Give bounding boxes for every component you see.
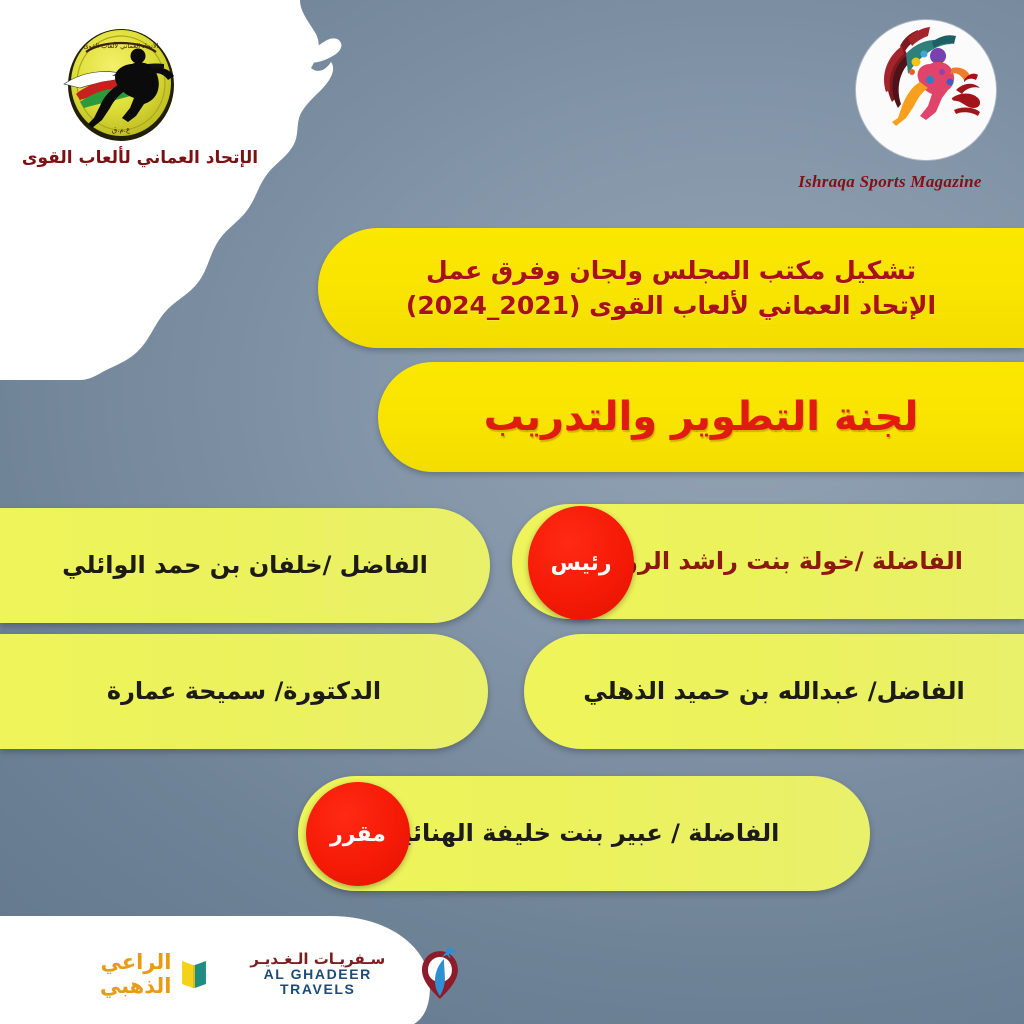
role-badge-rapporteur: مقرر (306, 782, 410, 886)
title-line-1: تشكيل مكتب المجلس ولجان وفرق عمل (406, 253, 936, 289)
federation-caption: الإتحاد العماني لألعاب القوى (0, 148, 280, 168)
al-ghadeer-english-name: AL GHADEER TRAVELS (223, 967, 412, 996)
magazine-caption: Ishraqa Sports Magazine (770, 172, 1010, 192)
title-banner: تشكيل مكتب المجلس ولجان وفرق عمل الإتحاد… (318, 228, 1024, 348)
al-ghadeer-pin-plane-icon (418, 947, 462, 1001)
subtitle-banner: لجنة التطوير والتدريب (378, 362, 1024, 472)
role-badge-label: رئيس (551, 551, 612, 576)
omani-athletics-federation-logo-icon: الاتحاد العماني لألعاب القوى ع.م.ق (56, 24, 186, 146)
member-name: الفاضل/ عبدالله بن حميد الذهلي (565, 675, 982, 707)
ishraqa-sports-magazine-logo-icon (856, 20, 996, 160)
committee-name: لجنة التطوير والتدريب (484, 394, 919, 440)
golden-sponsor-block: الراعي الذهبي (22, 950, 209, 998)
member-name: الدكتورة/ سميحة عمارة (89, 675, 399, 707)
title-line-2: الإتحاد العماني لألعاب القوى (2021_2024) (406, 288, 936, 324)
golden-sponsor-label: الراعي الذهبي (22, 950, 171, 998)
svg-text:ع.م.ق: ع.م.ق (112, 126, 131, 134)
page-title: تشكيل مكتب المجلس ولجان وفرق عمل الإتحاد… (380, 253, 962, 324)
member-pill-4: الدكتورة/ سميحة عمارة (0, 634, 488, 749)
role-badge-label: مقرر (330, 822, 386, 847)
poster-canvas: الاتحاد العماني لألعاب القوى ع.م.ق الإتح… (0, 0, 1024, 1024)
member-pill-2: الفاضل /خلفان بن حمد الوائلي (0, 508, 490, 623)
footer-sponsors: سـفريـات الـغـديـر AL GHADEER TRAVELS ال… (0, 924, 462, 1024)
member-pill-3: الفاضل/ عبدالله بن حميد الذهلي (524, 634, 1024, 749)
role-badge-chair: رئيس (528, 506, 634, 620)
member-name: الفاضلة / عبير بنت خليفة الهنائية (371, 817, 798, 849)
open-book-icon (179, 958, 209, 990)
svg-text:الاتحاد العماني لألعاب القوى: الاتحاد العماني لألعاب القوى (84, 41, 159, 50)
al-ghadeer-travels-logo: سـفريـات الـغـديـر AL GHADEER TRAVELS (223, 947, 462, 1001)
al-ghadeer-arabic-name: سـفريـات الـغـديـر (223, 952, 412, 967)
member-name: الفاضل /خلفان بن حمد الوائلي (44, 549, 446, 581)
